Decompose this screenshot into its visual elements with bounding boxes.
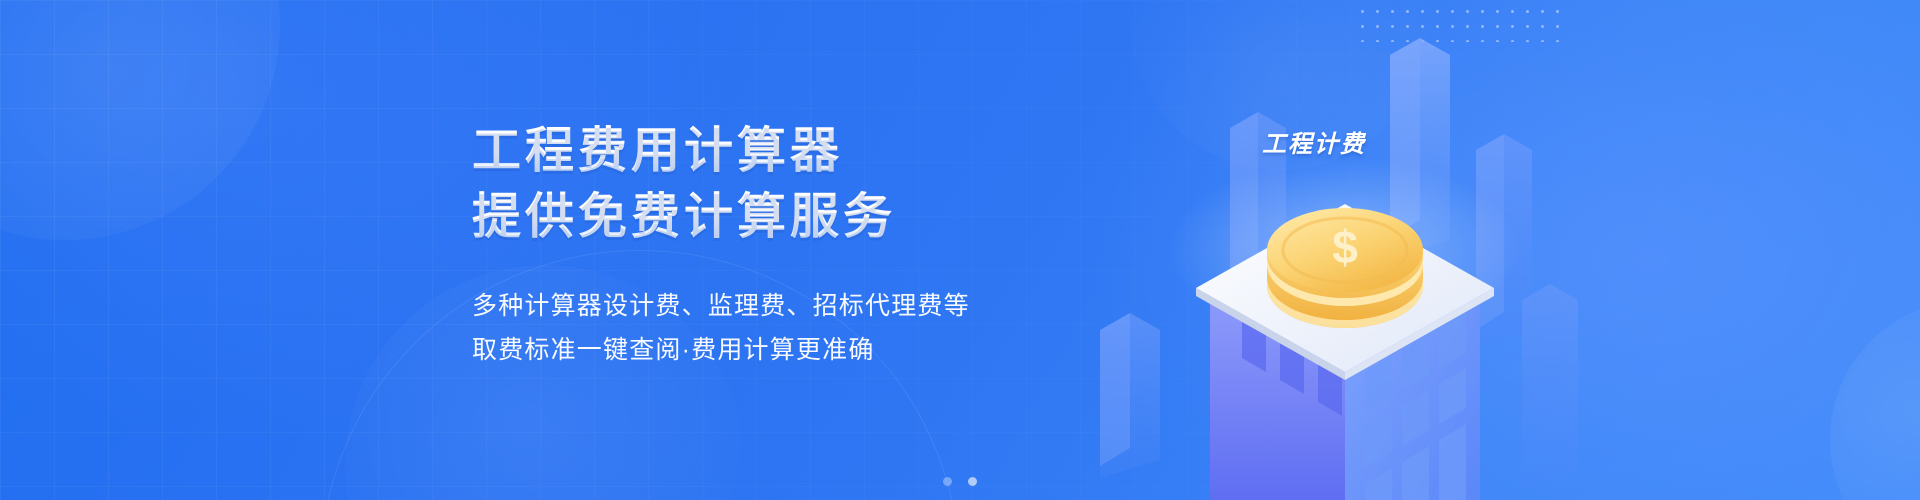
banner-illustration: $ 工程计费 [1090, 0, 1610, 500]
banner-copy: 工程费用计算器 提供免费计算服务 多种计算器设计费、监理费、招标代理费等 取费标… [472, 122, 1112, 372]
isometric-city-illustration: $ [1090, 0, 1610, 500]
carousel-dot-1[interactable] [943, 477, 952, 486]
carousel-dots[interactable] [0, 477, 1920, 486]
carousel-dot-2[interactable] [968, 477, 977, 486]
promo-banner: 工程费用计算器 提供免费计算服务 多种计算器设计费、监理费、招标代理费等 取费标… [0, 0, 1920, 500]
headline-line-2: 提供免费计算服务 [472, 188, 1112, 246]
coin-dollar-symbol: $ [1332, 221, 1358, 273]
subtitle-line-1: 多种计算器设计费、监理费、招标代理费等 [472, 284, 1112, 328]
illustration-tag-label: 工程计费 [1262, 124, 1366, 159]
subtitle-line-2: 取费标准一键查阅·费用计算更准确 [472, 328, 1112, 372]
coin-stack-icon: $ [1267, 208, 1423, 328]
headline-line-1: 工程费用计算器 [472, 122, 1112, 180]
